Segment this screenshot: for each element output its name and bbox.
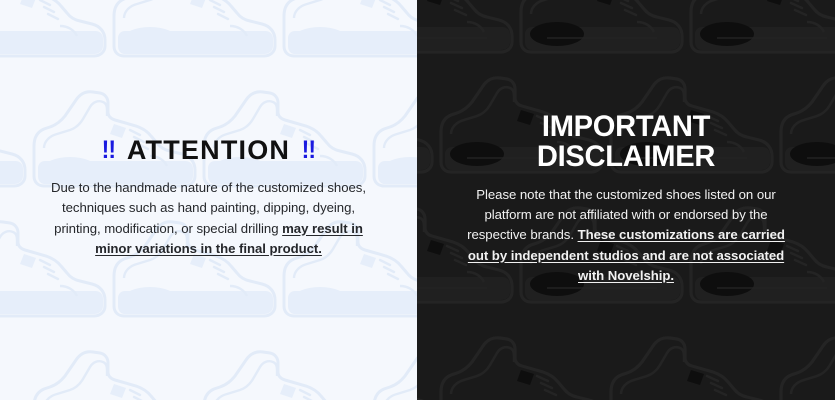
disclaimer-content: IMPORTANT DISCLAIMER Please note that th… <box>417 0 835 400</box>
double-exclamation-left-icon: !! <box>102 138 115 163</box>
disclaimer-heading-line-1: IMPORTANT <box>466 112 786 142</box>
attention-content: !! ATTENTION !! Due to the handmade natu… <box>0 0 417 400</box>
disclaimer-heading-line-2: DISCLAIMER <box>466 142 786 172</box>
disclaimer-panel: IMPORTANT DISCLAIMER Please note that th… <box>417 0 835 400</box>
double-exclamation-right-icon: !! <box>302 138 315 163</box>
disclaimer-heading: IMPORTANT DISCLAIMER <box>466 112 786 172</box>
attention-panel: !! ATTENTION !! Due to the handmade natu… <box>0 0 417 400</box>
attention-body: Due to the handmade nature of the custom… <box>44 178 374 260</box>
attention-heading: !! ATTENTION !! <box>44 137 374 164</box>
attention-heading-text: ATTENTION <box>127 137 290 164</box>
disclaimer-banner: !! ATTENTION !! Due to the handmade natu… <box>0 0 835 400</box>
disclaimer-body: Please note that the customized shoes li… <box>461 185 791 285</box>
